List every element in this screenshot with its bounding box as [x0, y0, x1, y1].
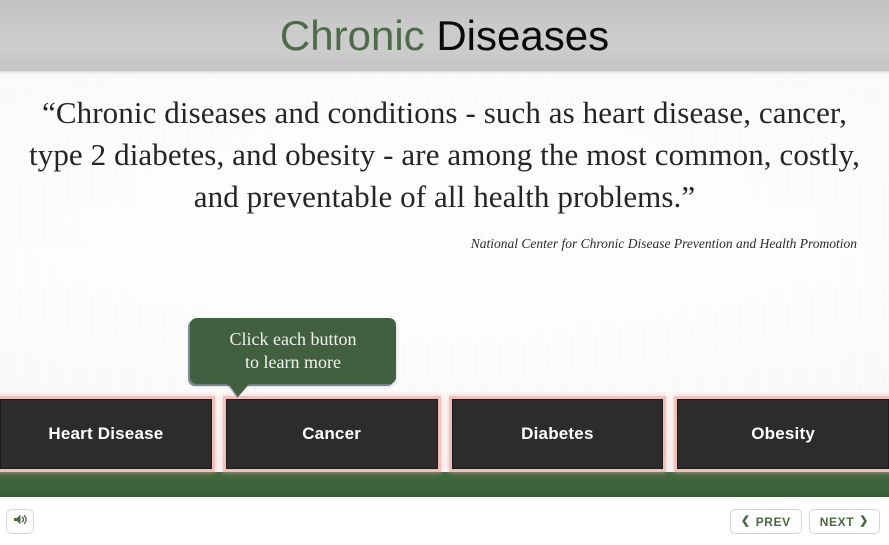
quote-block: “Chronic diseases and conditions - such … — [28, 92, 861, 252]
slide-title-band: Chronic Diseases — [0, 0, 889, 72]
speaker-volume-icon — [13, 513, 28, 531]
instruction-callout-text: Click each button to learn more — [190, 318, 396, 374]
disease-button-label: Heart Disease — [48, 424, 163, 444]
next-button[interactable]: NEXT ❯ — [809, 509, 880, 534]
quote-attribution: National Center for Chronic Disease Prev… — [28, 236, 857, 252]
disease-button-cancer[interactable]: Cancer — [223, 396, 441, 472]
disease-button-row: Heart Disease Cancer Diabetes Obesity — [0, 396, 889, 472]
instruction-callout: Click each button to learn more — [190, 318, 396, 384]
next-button-label: NEXT — [820, 515, 854, 529]
slide-stage: Chronic Diseases “Chronic diseases and c… — [0, 0, 889, 497]
callout-tail-icon — [228, 383, 250, 397]
green-accent-bar — [0, 472, 889, 497]
player-control-bar: ❮ PREV NEXT ❯ — [0, 497, 889, 545]
prev-button[interactable]: ❮ PREV — [730, 509, 802, 534]
quote-text: “Chronic diseases and conditions - such … — [28, 92, 861, 218]
slide-canvas: Chronic Diseases “Chronic diseases and c… — [0, 0, 889, 545]
disease-button-label: Obesity — [751, 424, 815, 444]
volume-button[interactable] — [6, 509, 34, 534]
disease-button-label: Cancer — [302, 424, 361, 444]
prev-button-label: PREV — [756, 515, 791, 529]
page-title-highlight: Chronic — [280, 12, 425, 59]
disease-button-label: Diabetes — [521, 424, 593, 444]
disease-button-diabetes[interactable]: Diabetes — [449, 396, 667, 472]
disease-button-obesity[interactable]: Obesity — [674, 396, 889, 472]
page-title-rest: Diseases — [425, 12, 609, 59]
navigation-buttons: ❮ PREV NEXT ❯ — [730, 509, 880, 534]
page-title: Chronic Diseases — [0, 0, 889, 72]
chevron-left-icon: ❮ — [741, 516, 751, 527]
chevron-right-icon: ❯ — [859, 516, 869, 527]
disease-button-heart-disease[interactable]: Heart Disease — [0, 396, 215, 472]
